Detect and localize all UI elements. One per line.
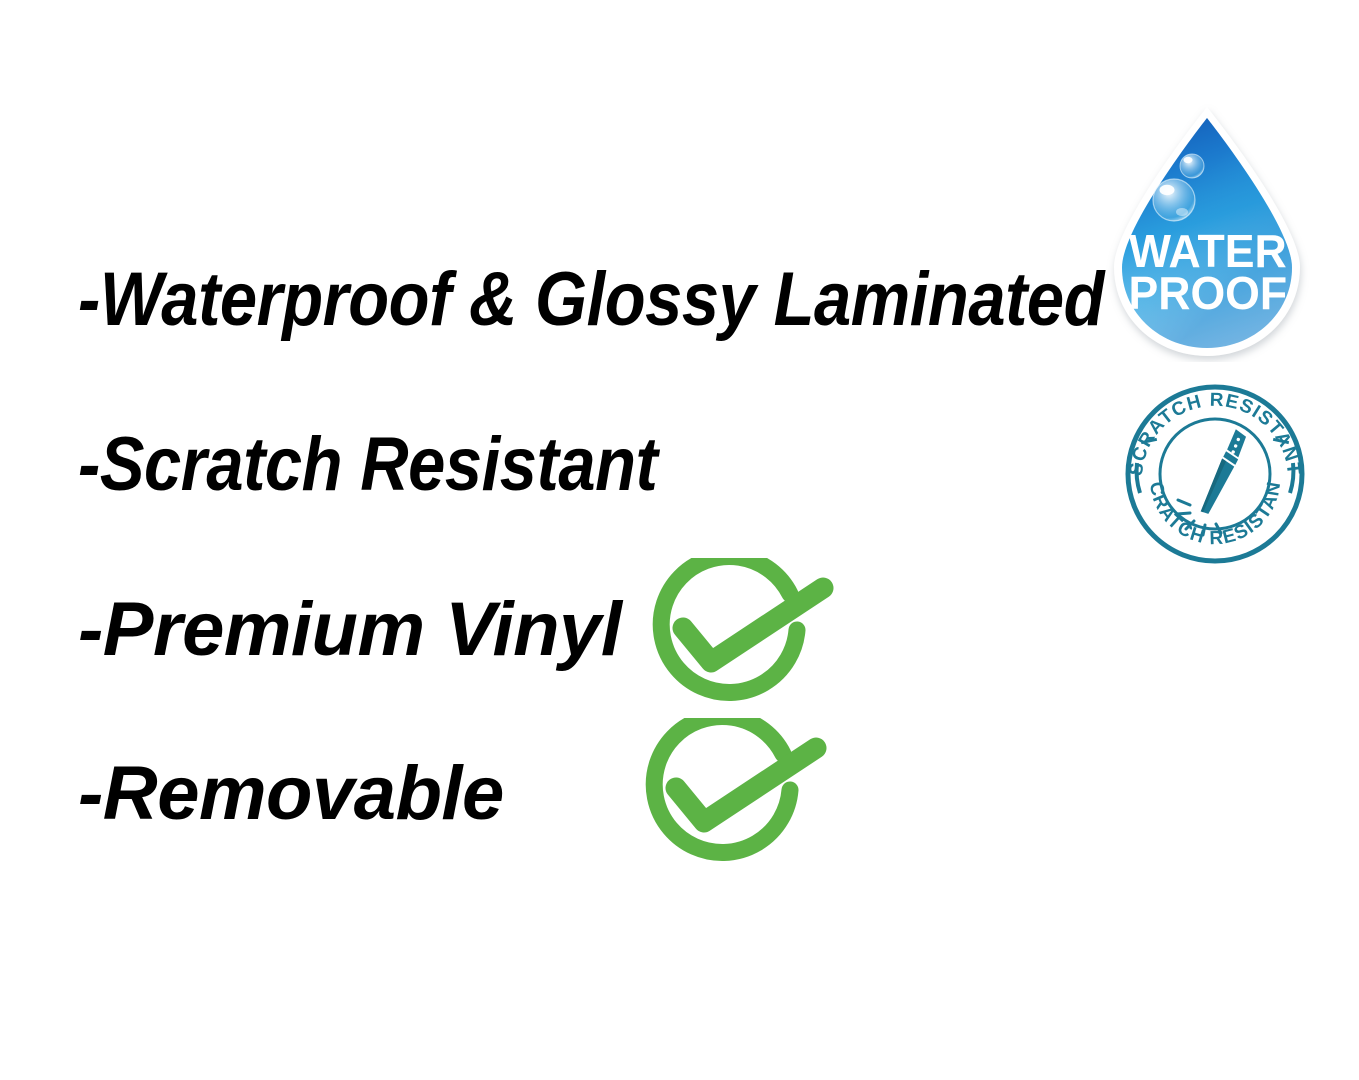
stamp-text-top: SCRATCH RESISTANT: [1126, 390, 1304, 477]
scratch-resistant-badge: SCRATCH RESISTANT SCRATCH RESISTANT: [1120, 381, 1310, 567]
feature-line-removable: -Removable: [78, 750, 504, 837]
feature-graphic-canvas: -Waterproof & Glossy Laminated -Scratch …: [0, 0, 1359, 1080]
water-bubble-large-icon: [1153, 179, 1195, 221]
waterproof-text-line2: PROOF: [1128, 267, 1287, 319]
feature-line-premium-vinyl: -Premium Vinyl: [78, 586, 621, 673]
water-bubble-small-icon: [1180, 154, 1204, 178]
check-circle-icon-1: [645, 558, 840, 708]
waterproof-badge: WATER PROOF: [1104, 104, 1312, 362]
feature-line-scratch-resistant: -Scratch Resistant: [78, 421, 657, 508]
check-circle-icon-2: [638, 718, 833, 868]
knife-icon: [1201, 427, 1248, 518]
feature-line-waterproof-glossy-laminated: -Waterproof & Glossy Laminated: [78, 256, 1104, 343]
